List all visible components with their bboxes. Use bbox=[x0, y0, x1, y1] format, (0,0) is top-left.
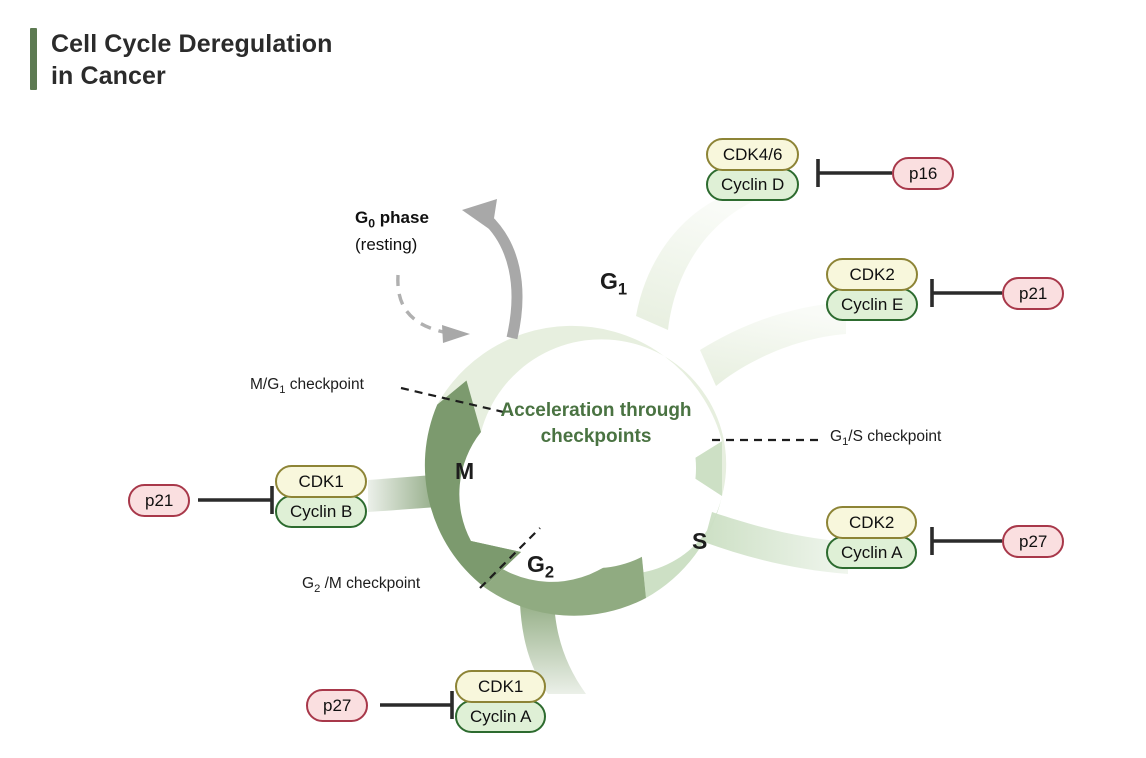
cdk1-pill-a[interactable]: CDK1 bbox=[455, 670, 546, 703]
cyclinb-pill[interactable]: Cyclin B bbox=[275, 495, 367, 528]
inhibitor-p16[interactable]: p16 bbox=[892, 157, 954, 190]
ring-label-m: M bbox=[455, 458, 474, 485]
cell-cycle-diagram bbox=[0, 0, 1146, 758]
checkpoint-label-m-g1: M/G1 checkpoint bbox=[250, 376, 364, 396]
cyclina-pill-right[interactable]: Cyclin A bbox=[826, 536, 917, 569]
cdk2-pill-e[interactable]: CDK2 bbox=[826, 258, 918, 291]
inhibitor-p27-cyclina[interactable]: p27 bbox=[1002, 525, 1064, 558]
checkpoint-label-g1-s: G1/S checkpoint bbox=[830, 428, 941, 448]
g0-exit-arrow bbox=[462, 199, 517, 338]
cyclind-pill[interactable]: Cyclin D bbox=[706, 168, 799, 201]
complex-cdk2-cyclina[interactable]: CDK2 Cyclin A bbox=[826, 506, 917, 569]
inhibitor-p21-cyclinb[interactable]: p21 bbox=[128, 484, 190, 517]
g0-return-arrow bbox=[398, 275, 470, 343]
ring-label-g1: G1 bbox=[600, 268, 627, 300]
complex-cdk2-cycline[interactable]: CDK2 Cyclin E bbox=[826, 258, 918, 321]
center-caption: Acceleration through checkpoints bbox=[496, 398, 696, 450]
cdk46-pill[interactable]: CDK4/6 bbox=[706, 138, 799, 171]
ring-label-g2: G2 bbox=[527, 551, 554, 583]
cdk1-pill-b[interactable]: CDK1 bbox=[275, 465, 367, 498]
complex-cdk1-cyclina[interactable]: CDK1 Cyclin A bbox=[455, 670, 546, 733]
ring-label-s: S bbox=[692, 528, 707, 555]
cdk2-pill-a[interactable]: CDK2 bbox=[826, 506, 917, 539]
complex-cdk46-cyclind[interactable]: CDK4/6 Cyclin D bbox=[706, 138, 799, 201]
complex-cdk1-cyclinb[interactable]: CDK1 Cyclin B bbox=[275, 465, 367, 528]
cycline-pill[interactable]: Cyclin E bbox=[826, 288, 918, 321]
inhibitor-p27-cyclina-bottom[interactable]: p27 bbox=[306, 689, 368, 722]
g0-phase-label: G0 phase bbox=[355, 208, 429, 230]
g0-phase-sublabel: (resting) bbox=[355, 235, 417, 255]
checkpoint-label-g2-m: G2 /M checkpoint bbox=[302, 575, 420, 595]
inhibitor-p21-cycline[interactable]: p21 bbox=[1002, 277, 1064, 310]
cyclina-pill-bottom[interactable]: Cyclin A bbox=[455, 700, 546, 733]
